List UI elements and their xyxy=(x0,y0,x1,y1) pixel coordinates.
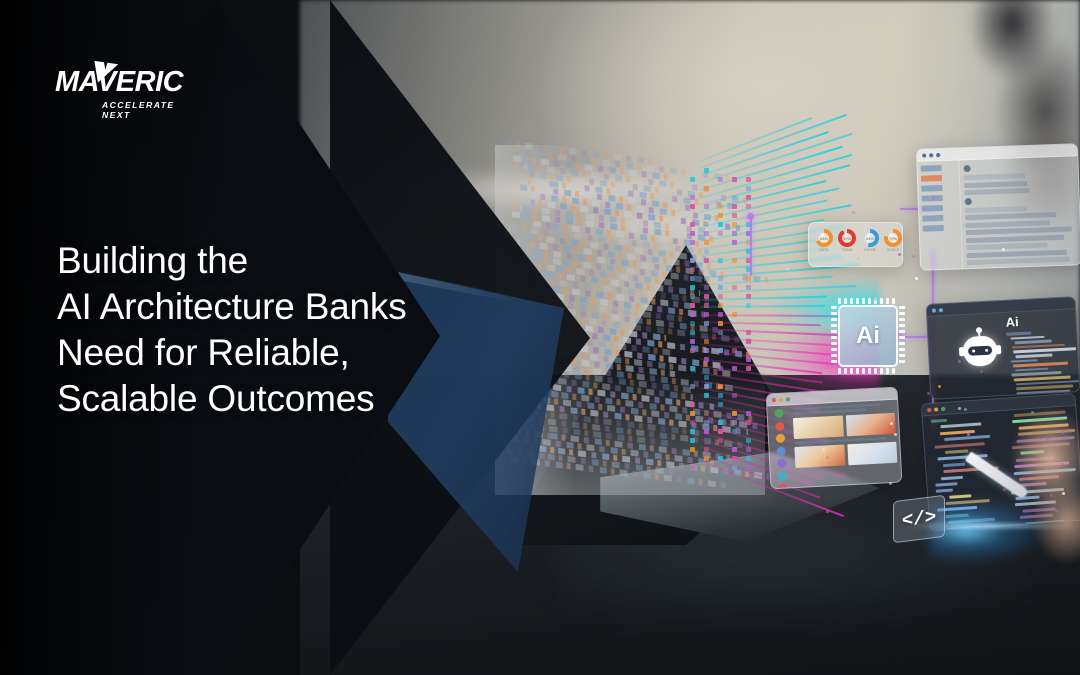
headline-line-4: Scalable Outcomes xyxy=(57,376,527,422)
page-title: Building the AI Architecture Banks Need … xyxy=(57,238,527,422)
floating-particles xyxy=(760,180,1080,510)
maveric-logo[interactable]: MAVERIC ACCELERATE NEXT xyxy=(55,68,205,114)
logo-wordmark: MAVERIC xyxy=(55,68,205,97)
chat-sidebar-item[interactable] xyxy=(921,164,956,171)
traffic-light-dot[interactable] xyxy=(922,153,926,157)
avatar xyxy=(964,165,971,172)
connector-wire xyxy=(750,216,752,276)
headline-line-1: Building the xyxy=(57,238,527,284)
headline-line-3: Need for Reliable, xyxy=(57,330,527,376)
logo-tagline: ACCELERATE NEXT xyxy=(102,100,205,120)
traffic-light-dot[interactable] xyxy=(936,153,940,157)
marketing-banner: Ai 68%DATA92%TRAIN54%INFER79%SCALE xyxy=(0,0,1080,675)
traffic-light-dot[interactable] xyxy=(929,153,933,157)
headline-line-2: AI Architecture Banks xyxy=(57,284,527,330)
